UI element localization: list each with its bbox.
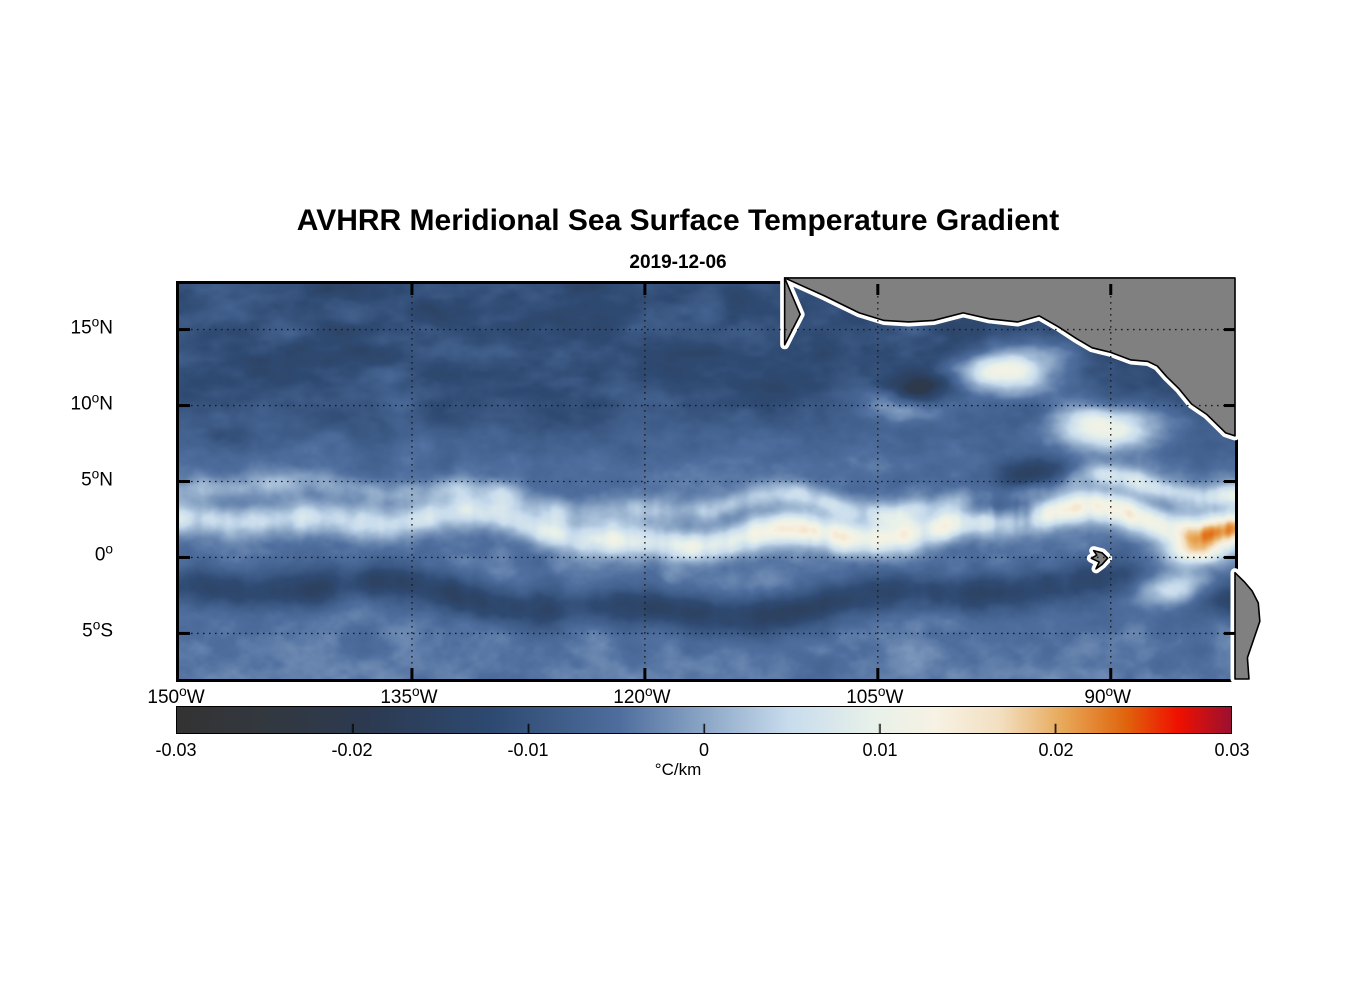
figure-title: AVHRR Meridional Sea Surface Temperature… — [0, 204, 1356, 238]
colorbar — [176, 706, 1232, 734]
colorbar-tick-label: 0.02 — [1038, 740, 1073, 761]
gridline-layer — [179, 284, 1235, 679]
colorbar-tick-label: -0.03 — [155, 740, 196, 761]
colorbar-tick-label: -0.02 — [331, 740, 372, 761]
colorbar-units-label: °C/km — [0, 760, 1356, 780]
colorbar-gradient — [176, 706, 1232, 734]
colorbar-tick-label: 0 — [699, 740, 709, 761]
figure-subtitle: 2019-12-06 — [0, 252, 1356, 274]
ytick-label: 5oS — [82, 618, 113, 643]
colorbar-tick-label: 0.01 — [862, 740, 897, 761]
colorbar-tick-label: 0.03 — [1214, 740, 1249, 761]
map-axes — [176, 281, 1238, 682]
land-polygon-south-america — [1235, 573, 1260, 679]
ytick-label: 5oN — [81, 466, 113, 491]
figure-canvas: AVHRR Meridional Sea Surface Temperature… — [0, 0, 1356, 1000]
ytick-label: 15oN — [71, 314, 113, 339]
colorbar-tick-label: -0.01 — [507, 740, 548, 761]
ytick-label: 10oN — [71, 390, 113, 415]
ytick-label: 0o — [95, 542, 113, 567]
